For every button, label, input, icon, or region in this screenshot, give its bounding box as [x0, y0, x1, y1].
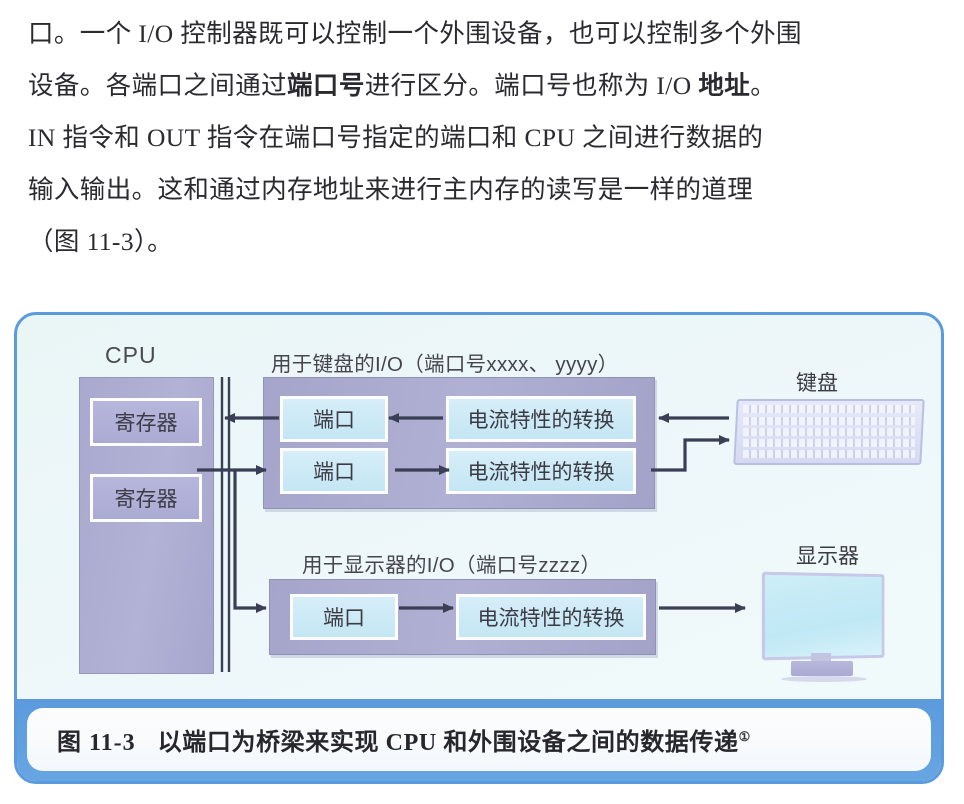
monitor-base [791, 661, 853, 676]
keyboard-key-row [743, 417, 915, 425]
prose-line-2: 设备。各端口之间通过端口号进行区分。端口号也称为 I/O 地址。 [28, 60, 934, 112]
keyboard-key-row [743, 405, 915, 413]
prose-term-port-number: 端口号 [287, 71, 365, 100]
arrow-converter2-to-keyboard [651, 440, 729, 470]
prose-term-address: 地址 [698, 71, 750, 100]
io-controller-2-label: 用于显示器的I/O（端口号zzzz） [302, 548, 601, 578]
prose-line-4: 输入输出。这和通过内存地址来进行主内存的读写是一样的道理 [28, 164, 934, 216]
monitor-icon [759, 573, 889, 691]
prose-line-3: IN 指令和 OUT 指令在端口号指定的端口和 CPU 之间进行数据的 [28, 112, 934, 164]
keyboard-key-row [743, 428, 915, 436]
body-paragraph: 口。一个 I/O 控制器既可以控制一个外围设备，也可以控制多个外围 设备。各端口… [28, 0, 934, 268]
prose-line-2-e: 。 [750, 71, 776, 100]
arrow-register2-to-port3 [235, 470, 266, 608]
prose-line-1: 口。一个 I/O 控制器既可以控制一个外围设备，也可以控制多个外围 [28, 8, 934, 60]
monitor-shadow [781, 676, 867, 682]
monitor-label: 显示器 [796, 540, 859, 570]
converter-box-3: 电流特性的转换 [456, 594, 646, 640]
converter-box-2: 电流特性的转换 [446, 448, 636, 494]
port-box-1: 端口 [280, 396, 388, 442]
figure-caption-text: 图 11-3以端口为桥梁来实现 CPU 和外围设备之间的数据传递① [57, 722, 751, 757]
converter-box-1: 电流特性的转换 [446, 396, 636, 442]
keyboard-icon [735, 399, 923, 465]
port-box-3: 端口 [290, 594, 398, 640]
keyboard-key-row [743, 439, 915, 447]
figure-11-3: CPU 寄存器 寄存器 用于键盘的I/O（端口号xxxx、 yyyy） 端口 端… [14, 312, 944, 784]
keyboard-key-row [743, 450, 915, 458]
io-controller-1-block: 端口 端口 电流特性的转换 电流特性的转换 [263, 377, 655, 509]
footnote-marker: ① [739, 729, 751, 744]
register-box-2: 寄存器 [90, 474, 202, 522]
prose-line-5: （图 11-3）。 [28, 216, 934, 268]
prose-line-2-c: 进行区分。端口号也称为 I/O [365, 71, 699, 100]
figure-caption-box: 图 11-3以端口为桥梁来实现 CPU 和外围设备之间的数据传递① [27, 708, 931, 771]
prose-line-2-a: 设备。各端口之间通过 [28, 71, 287, 100]
port-box-2: 端口 [280, 448, 388, 494]
diagram-canvas: CPU 寄存器 寄存器 用于键盘的I/O（端口号xxxx、 yyyy） 端口 端… [17, 315, 941, 695]
figure-number: 图 11-3 [57, 730, 136, 756]
keyboard-label: 键盘 [796, 367, 838, 397]
register-box-1: 寄存器 [90, 398, 202, 446]
cpu-block: 寄存器 寄存器 [79, 377, 214, 674]
figure-caption-title: 以端口为桥梁来实现 CPU 和外围设备之间的数据传递 [158, 730, 739, 756]
io-controller-2-block: 端口 电流特性的转换 [269, 579, 656, 655]
cpu-label: CPU [105, 342, 157, 369]
monitor-screen [762, 572, 885, 661]
figure-caption-band: 图 11-3以端口为桥梁来实现 CPU 和外围设备之间的数据传递① [17, 699, 941, 781]
io-controller-1-label: 用于键盘的I/O（端口号xxxx、 yyyy） [271, 347, 618, 377]
